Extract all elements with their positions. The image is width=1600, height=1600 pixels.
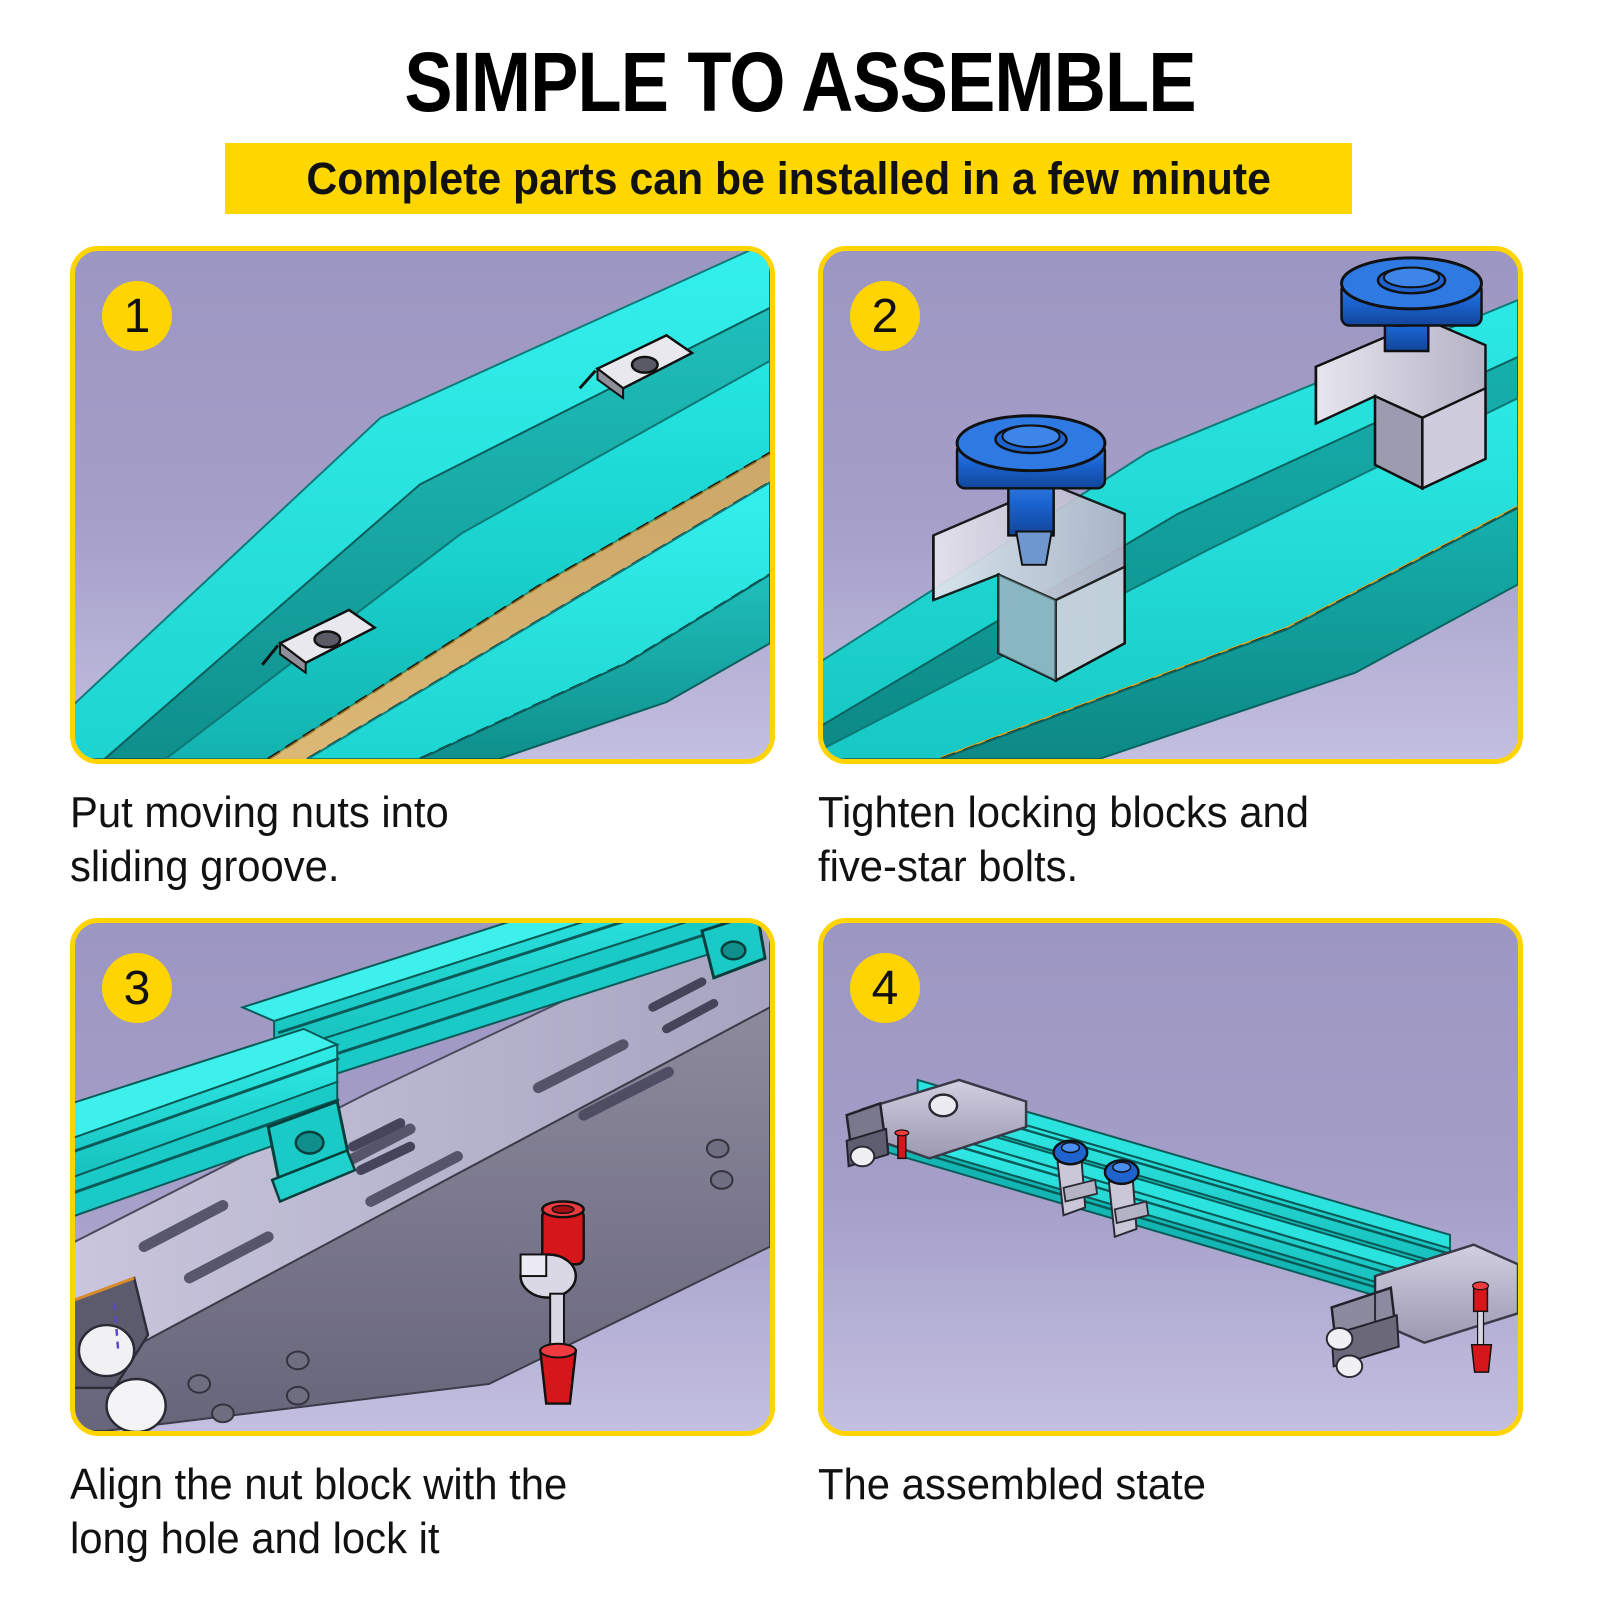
step-caption: Align the nut block with the long hole a… xyxy=(70,1458,749,1566)
subtitle-banner: Complete parts can be installed in a few… xyxy=(225,143,1352,214)
subtitle-text: Complete parts can be installed in a few… xyxy=(306,153,1270,205)
step-number-badge: 4 xyxy=(850,953,920,1023)
page-title: SIMPLE TO ASSEMBLE xyxy=(112,38,1488,126)
steps-grid: 1 Put moving nuts into sliding groove. xyxy=(0,246,1600,1600)
step-3-image: 3 xyxy=(70,918,775,1436)
step-2: 2 Tighten locking blocks and five-star b… xyxy=(818,246,1533,894)
step-3: 3 Align the nut block with the long hole… xyxy=(70,918,785,1566)
step-caption: Put moving nuts into sliding groove. xyxy=(70,786,749,894)
rail-closeup-illustration xyxy=(75,251,770,759)
step-4: 4 The assembled state xyxy=(818,918,1533,1512)
align-nut-block-illustration xyxy=(75,923,770,1431)
step-4-image: 4 xyxy=(818,918,1523,1436)
assembled-state-illustration xyxy=(823,923,1518,1431)
step-number-badge: 1 xyxy=(102,281,172,351)
step-caption: Tighten locking blocks and five-star bol… xyxy=(818,786,1497,894)
infographic-page: SIMPLE TO ASSEMBLE Complete parts can be… xyxy=(0,0,1600,1600)
step-number-badge: 3 xyxy=(102,953,172,1023)
step-number-badge: 2 xyxy=(850,281,920,351)
step-1: 1 Put moving nuts into sliding groove. xyxy=(70,246,785,894)
locking-block-illustration xyxy=(823,251,1518,759)
step-2-image: 2 xyxy=(818,246,1523,764)
step-caption: The assembled state xyxy=(818,1458,1497,1512)
step-1-image: 1 xyxy=(70,246,775,764)
